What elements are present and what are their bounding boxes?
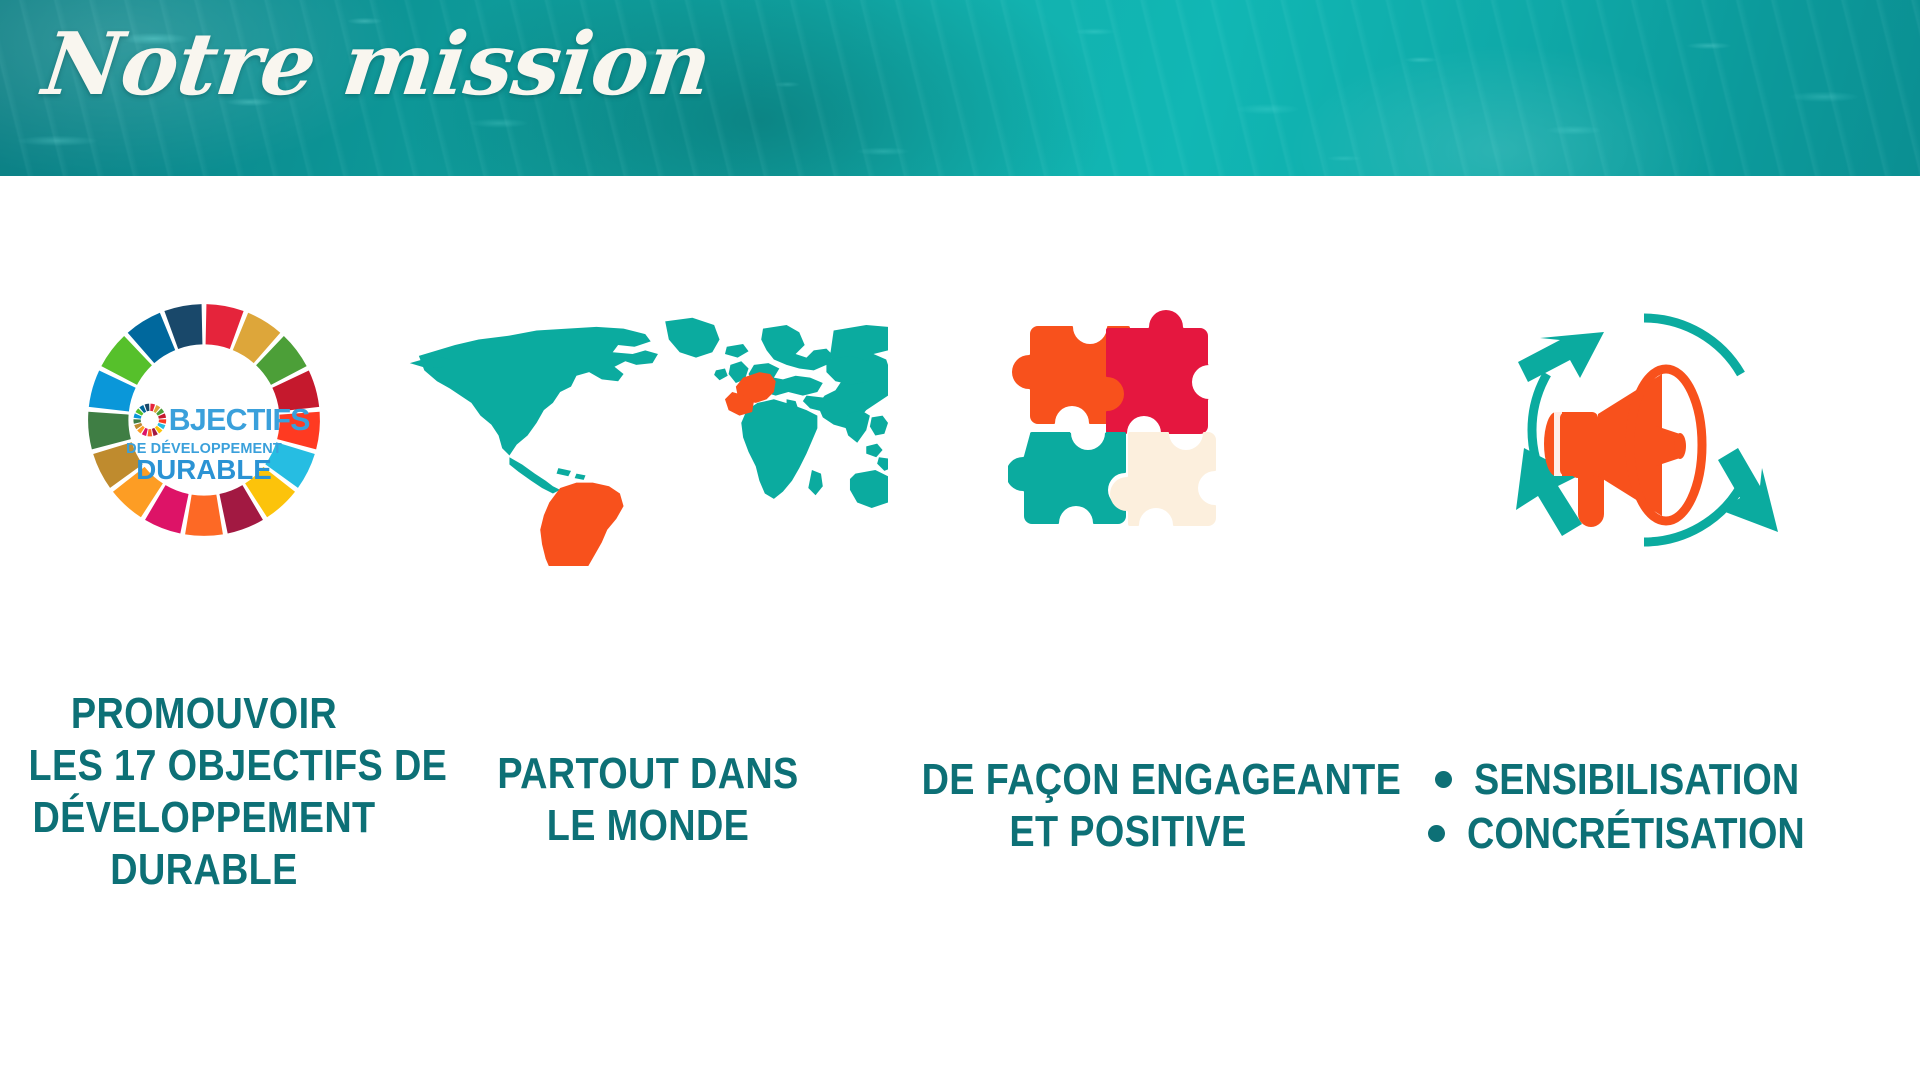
list-item: SENSIBILISATION [1435, 754, 1852, 806]
sdg-logo-line1: BJECTIFS [169, 404, 310, 437]
sdg-wheel-svg: BJECTIFS DE DÉVELOPPEMENT DURABLE [78, 294, 330, 546]
caption-facon: DE FAÇON ENGAGEANTE ET POSITIVE [922, 754, 1335, 858]
caption-line: DÉVELOPPEMENT [29, 792, 380, 844]
mission-column-sdg: BJECTIFS DE DÉVELOPPEMENT DURABLE PROMOU… [0, 176, 408, 1080]
caption-promouvoir: PROMOUVOIR LES 17 OBJECTIFS DE DÉVELOPPE… [29, 688, 380, 896]
bullet-label: CONCRÉTISATION [1467, 808, 1805, 860]
slide-root: Notre mission BJECTIFS DE DÉVELOPPEMENT … [0, 0, 1920, 1080]
header-band: Notre mission [0, 0, 1920, 176]
caption-partout: PARTOUT DANS LE MONDE [442, 748, 855, 852]
world-map-svg [408, 296, 888, 566]
mission-columns: BJECTIFS DE DÉVELOPPEMENT DURABLE PROMOU… [0, 176, 1920, 1080]
puzzle-piece-crimson [1106, 310, 1209, 434]
bullet-label: SENSIBILISATION [1474, 754, 1799, 806]
puzzle-svg [1008, 306, 1248, 546]
caption-line: LES 17 OBJECTIFS DE [29, 740, 380, 792]
megaphone-recycle-icon [1368, 296, 1920, 566]
world-map-highlight-regions [540, 372, 775, 566]
megaphone-svg [1494, 296, 1794, 566]
bullet-dot-icon [1435, 771, 1452, 788]
mission-column-world: PARTOUT DANS LE MONDE [408, 176, 888, 1080]
caption-line: PROMOUVOIR [29, 688, 380, 740]
caption-line: DURABLE [29, 844, 380, 896]
sdg-wheel-segment [88, 412, 131, 450]
sdg-wheel-segment [185, 495, 223, 536]
mission-column-megaphone: SENSIBILISATION CONCRÉTISATION [1368, 176, 1920, 1080]
sdg-logo-line3: DURABLE [136, 454, 272, 485]
puzzle-pieces-icon [888, 306, 1368, 546]
sdg-wheel-icon: BJECTIFS DE DÉVELOPPEMENT DURABLE [0, 294, 408, 546]
caption-line: LE MONDE [442, 800, 855, 852]
caption-line: DE FAÇON ENGAGEANTE [922, 754, 1335, 806]
world-map-icon [408, 296, 888, 566]
bullet-list-actions: SENSIBILISATION CONCRÉTISATION [1368, 754, 1920, 860]
puzzle-piece-teal [1008, 432, 1126, 524]
world-map-landmass [410, 318, 888, 534]
caption-line: PARTOUT DANS [442, 748, 855, 800]
page-title: Notre mission [39, 22, 715, 108]
bullet-dot-icon [1428, 825, 1445, 842]
mission-column-puzzle: DE FAÇON ENGAGEANTE ET POSITIVE [888, 176, 1368, 1080]
caption-line: ET POSITIVE [922, 806, 1335, 858]
list-item: CONCRÉTISATION [1428, 808, 1860, 860]
